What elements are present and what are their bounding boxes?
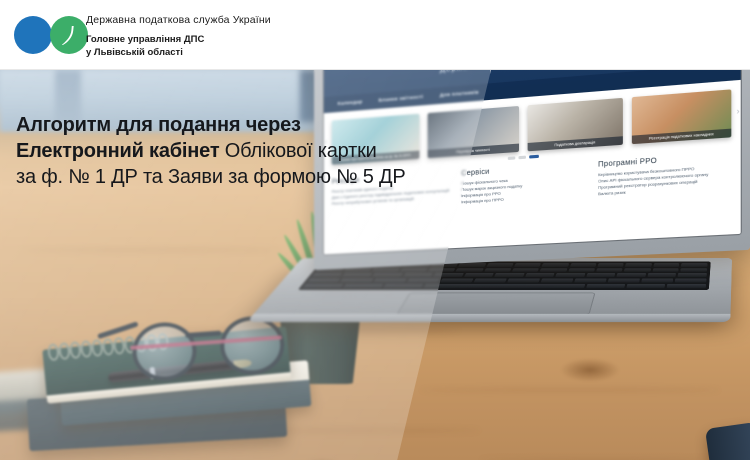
- card-invoice-registration[interactable]: Реєстрація податкових накладних: [632, 89, 731, 144]
- banner-title-line-1: Алгоритм для подання через: [16, 112, 486, 138]
- carousel-dot[interactable]: [518, 156, 526, 159]
- promo-banner: gov.ua Державна податкова служба України…: [0, 0, 750, 460]
- keyboard-row: [302, 284, 706, 288]
- dps-logo[interactable]: ⵰: [14, 16, 88, 54]
- banner-title-line-2-bold: Електронний кабінет: [16, 140, 219, 162]
- smartphone: [705, 422, 750, 460]
- blue-circle-icon: [14, 16, 52, 54]
- green-circle-trident-icon: ⵰: [50, 16, 88, 54]
- page-header: ⵰ Державна податкова служба України Голо…: [0, 0, 750, 70]
- keyboard-row: [311, 273, 707, 277]
- banner-title: Алгоритм для подання через Електронний к…: [16, 112, 486, 190]
- keyboard-row: [306, 278, 706, 282]
- keyboard-row: [315, 268, 707, 272]
- banner-title-line-2-rest: Облікової картки: [219, 140, 376, 162]
- nav-item-for-payers[interactable]: Для платників: [440, 90, 479, 98]
- org-line-2: Головне управління ДПС: [86, 33, 271, 46]
- banner-title-line-3: за ф. № 1 ДР та Заяви за формою № 5 ДР: [16, 164, 486, 190]
- card-caption: Реєстрація податкових накладних: [632, 128, 731, 144]
- org-line-3: у Львівській області: [86, 46, 271, 59]
- card-caption: Податкова декларація: [528, 136, 623, 152]
- card-tax-declaration[interactable]: Податкова декларація: [528, 98, 623, 151]
- laptop-front-lip: [246, 314, 730, 322]
- column-prro: Програмні РРО Керівництво користувача бе…: [598, 153, 731, 198]
- org-text-block: Державна податкова служба України Головн…: [86, 14, 271, 59]
- nav-item-calendar[interactable]: Календар: [338, 100, 363, 107]
- carousel-dot-active[interactable]: [529, 155, 539, 158]
- nav-item-report-forms[interactable]: Бланки звітності: [379, 95, 424, 104]
- trident-glyph: ⵰: [64, 24, 75, 46]
- org-line-1: Державна податкова служба України: [86, 14, 271, 26]
- trackpad[interactable]: [396, 292, 595, 314]
- carousel-pagination: [508, 155, 539, 160]
- carousel-next-icon[interactable]: ›: [736, 106, 739, 116]
- carousel-dot[interactable]: [508, 156, 515, 159]
- header-divider: [0, 69, 750, 70]
- banner-title-line-2: Електронний кабінет Облікової картки: [16, 138, 486, 164]
